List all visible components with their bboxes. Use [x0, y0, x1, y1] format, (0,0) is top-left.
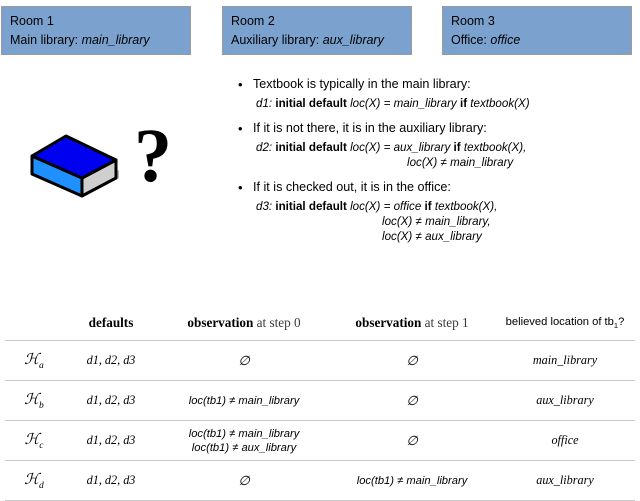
cell-believed-location: main_library	[495, 341, 635, 381]
formula-d2-body: loc(X) = aux_library	[350, 141, 450, 154]
cell-believed-location: office	[495, 421, 635, 461]
bullet-item-2: • If it is not there, it is in the auxil…	[236, 120, 636, 137]
bullet-text-3: If it is checked out, it is in the offic…	[253, 180, 451, 194]
cell-observation-step1: loc(tb1) ≠ main_library	[329, 461, 495, 501]
room-2-label: Auxiliary library:	[231, 33, 319, 47]
observation-line-2: loc(tb1) ≠ aux_library	[159, 441, 329, 455]
formula-d1: d1: initial default loc(X) = main_librar…	[236, 96, 636, 111]
formula-d3-keyword: initial default	[275, 200, 347, 213]
column-header-believed-prefix: believed location of tb	[506, 316, 614, 328]
formula-d2-keyword: initial default	[275, 141, 347, 154]
formula-d2-if: if	[454, 141, 461, 154]
hypotheses-table: defaults observation at step 0 observati…	[5, 306, 635, 501]
room-box-2: Room 2 Auxiliary library: aux_library	[222, 6, 412, 55]
formula-d3-continuation-1: loc(X) ≠ main_library,	[256, 214, 636, 229]
table-row: ℋd d1, d2, d3 ∅ loc(tb1) ≠ main_library …	[5, 461, 635, 501]
question-mark-icon: ?	[134, 118, 172, 194]
column-header-obs0-bold: observation	[187, 315, 253, 330]
formula-d3-if: if	[425, 200, 432, 213]
room-3-title: Room 3	[451, 12, 631, 30]
column-header-obs1-light: at step 1	[425, 315, 469, 330]
table-row: ℋa d1, d2, d3 ∅ ∅ main_library	[5, 341, 635, 381]
formula-d3-continuation-2: loc(X) ≠ aux_library	[256, 229, 636, 244]
room-1-title: Room 1	[10, 12, 190, 30]
column-header-observation-step1: observation at step 1	[329, 306, 495, 341]
bullet-marker-icon: •	[238, 76, 243, 93]
formula-d1-condition: textbook(X)	[470, 97, 529, 110]
hypothesis-subscript: a	[39, 361, 44, 371]
formula-d2-continuation-1: loc(X) ≠ main_library	[256, 155, 636, 170]
cell-observation-step0: ∅	[159, 341, 329, 381]
table-row: ℋc d1, d2, d3 loc(tb1) ≠ main_library lo…	[5, 421, 635, 461]
column-header-believed-location: believed location of tb1?	[495, 306, 635, 341]
row-label-hypothesis-d: ℋd	[5, 461, 63, 501]
room-1-value: main_library	[82, 33, 150, 47]
illustration-group: ?	[12, 112, 202, 217]
cell-defaults: d1, d2, d3	[63, 421, 159, 461]
room-3-label: Office:	[451, 33, 487, 47]
cell-believed-location: aux_library	[495, 461, 635, 501]
cell-observation-step0: loc(tb1) ≠ main_library loc(tb1) ≠ aux_l…	[159, 421, 329, 461]
formula-d2-id: d2:	[256, 141, 272, 154]
column-header-obs1-bold: observation	[355, 315, 421, 330]
bullet-item-3: • If it is checked out, it is in the off…	[236, 179, 636, 196]
row-label-hypothesis-c: ℋc	[5, 421, 63, 461]
hypothesis-subscript: c	[39, 441, 43, 451]
room-box-1: Room 1 Main library: main_library	[1, 6, 191, 55]
formula-d3-id: d3:	[256, 200, 272, 213]
column-header-defaults: defaults	[63, 306, 159, 341]
bullet-marker-icon: •	[238, 179, 243, 196]
cell-observation-step1: ∅	[329, 381, 495, 421]
column-header-hypothesis	[5, 306, 63, 341]
room-3-value: office	[490, 33, 520, 47]
column-header-defaults-text: defaults	[89, 315, 134, 330]
room-box-3: Room 3 Office: office	[442, 6, 632, 55]
hypothesis-subscript: b	[39, 401, 44, 411]
formula-d1-body: loc(X) = main_library	[350, 97, 457, 110]
room-2-title: Room 2	[231, 12, 411, 30]
cell-believed-location: aux_library	[495, 381, 635, 421]
row-label-hypothesis-a: ℋa	[5, 341, 63, 381]
formula-d1-if: if	[460, 97, 467, 110]
room-1-description: Main library: main_library	[10, 30, 190, 50]
hypotheses-table-wrapper: defaults observation at step 0 observati…	[0, 306, 640, 501]
cell-observation-step0: ∅	[159, 461, 329, 501]
hypothesis-symbol: ℋ	[24, 472, 39, 488]
cell-defaults: d1, d2, d3	[63, 381, 159, 421]
cell-observation-step0: loc(tb1) ≠ main_library	[159, 381, 329, 421]
cell-observation-step1: ∅	[329, 341, 495, 381]
table-row: ℋb d1, d2, d3 loc(tb1) ≠ main_library ∅ …	[5, 381, 635, 421]
formula-d1-id: d1:	[256, 97, 272, 110]
room-2-description: Auxiliary library: aux_library	[231, 30, 411, 50]
cell-defaults: d1, d2, d3	[63, 341, 159, 381]
room-1-label: Main library:	[10, 33, 78, 47]
room-3-description: Office: office	[451, 30, 631, 50]
formula-d3: d3: initial default loc(X) = office if t…	[236, 199, 636, 244]
formula-d2-condition: textbook(X),	[464, 141, 527, 154]
table-header-row: defaults observation at step 0 observati…	[5, 306, 635, 341]
column-header-observation-step0: observation at step 0	[159, 306, 329, 341]
bullet-text-1: Textbook is typically in the main librar…	[253, 77, 471, 91]
default-rules-list: • Textbook is typically in the main libr…	[236, 76, 636, 253]
hypothesis-subscript: d	[39, 481, 44, 491]
room-2-value: aux_library	[323, 33, 384, 47]
bullet-item-1: • Textbook is typically in the main libr…	[236, 76, 636, 93]
bullet-marker-icon: •	[238, 120, 243, 137]
row-label-hypothesis-b: ℋb	[5, 381, 63, 421]
hypothesis-symbol: ℋ	[24, 432, 39, 448]
formula-d3-body: loc(X) = office	[350, 200, 421, 213]
formula-d2: d2: initial default loc(X) = aux_library…	[236, 140, 636, 170]
formula-d1-keyword: initial default	[275, 97, 347, 110]
hypothesis-symbol: ℋ	[24, 392, 39, 408]
observation-line-1: loc(tb1) ≠ main_library	[159, 427, 329, 441]
column-header-obs0-light: at step 0	[257, 315, 301, 330]
cell-observation-step1: ∅	[329, 421, 495, 461]
formula-d3-condition: textbook(X),	[435, 200, 498, 213]
hypothesis-symbol: ℋ	[24, 352, 39, 368]
bullet-text-2: If it is not there, it is in the auxilia…	[253, 121, 487, 135]
cell-defaults: d1, d2, d3	[63, 461, 159, 501]
column-header-believed-suffix: ?	[618, 316, 624, 328]
book-icon	[24, 126, 124, 198]
